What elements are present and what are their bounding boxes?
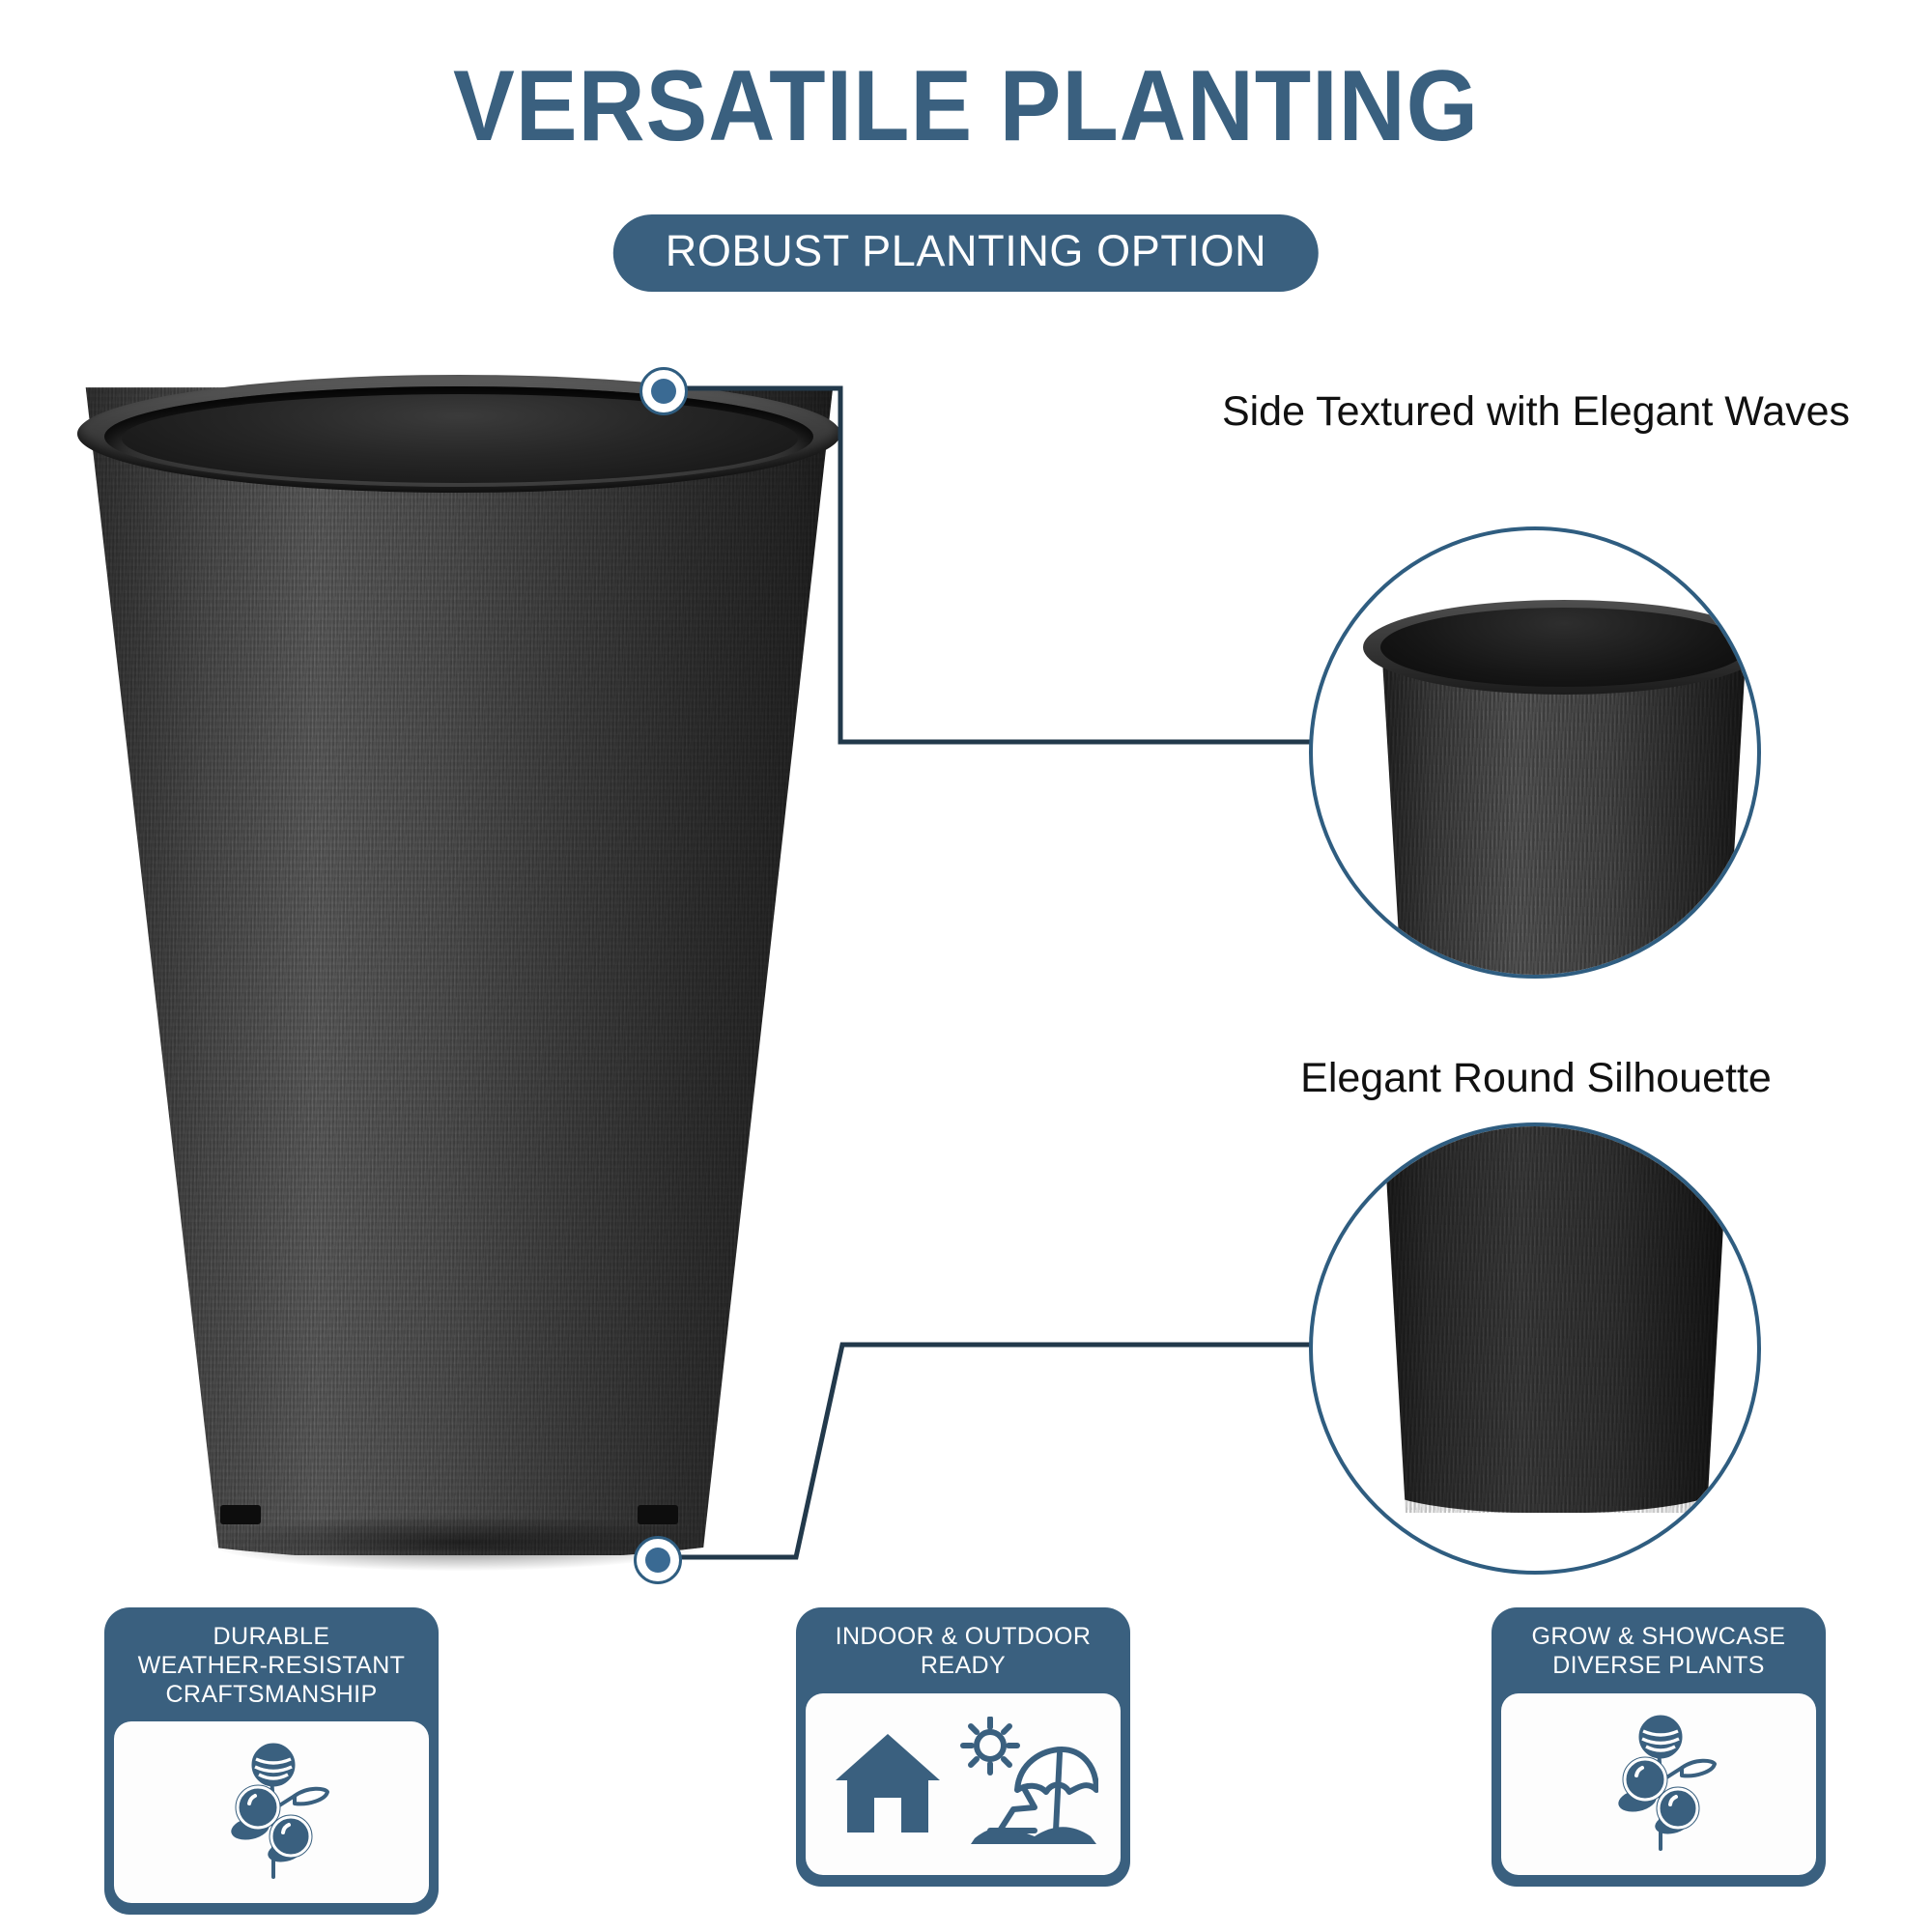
lounge-chair-icon <box>990 1790 1035 1831</box>
detail-circle-side-texture <box>1309 526 1761 979</box>
feature-card-durable[interactable]: DURABLE WEATHER-RESISTANT CRAFTSMANSHIP <box>104 1607 439 1915</box>
berry-branch-icon <box>1601 1712 1717 1857</box>
house-icon <box>836 1734 940 1833</box>
hero-planter-image <box>39 319 879 1565</box>
subtitle-badge: ROBUST PLANTING OPTION <box>613 214 1319 292</box>
feature-card-title: INDOOR & OUTDOOR READY <box>834 1621 1094 1681</box>
detail-pot-top-cavity <box>1380 608 1747 687</box>
feature-card-title: DURABLE WEATHER-RESISTANT CRAFTSMANSHIP <box>136 1621 408 1709</box>
feature-card-indoor-outdoor[interactable]: INDOOR & OUTDOOR READY <box>796 1607 1130 1887</box>
feature-icon-panel <box>806 1693 1121 1875</box>
callout-dot-top[interactable] <box>639 367 688 415</box>
planter-foot-notch-right <box>638 1505 678 1524</box>
house-and-beach-icon <box>828 1717 1098 1852</box>
feature-icon-panel <box>114 1721 429 1903</box>
feature-card-grow-showcase[interactable]: GROW & SHOWCASE DIVERSE PLANTS <box>1492 1607 1826 1887</box>
detail-circle-round-silhouette <box>1309 1122 1761 1575</box>
page-title: VERSATILE PLANTING <box>77 56 1855 156</box>
feature-card-title: GROW & SHOWCASE DIVERSE PLANTS <box>1530 1621 1788 1681</box>
planter-body <box>39 357 879 1565</box>
callout-dot-bottom[interactable] <box>634 1536 682 1584</box>
sun-icon <box>963 1719 1017 1773</box>
detail-pot-bottom-body <box>1359 1122 1746 1513</box>
beach-umbrella-icon <box>1017 1749 1096 1831</box>
callout-label-round-silhouette: Elegant Round Silhouette <box>1198 1051 1874 1106</box>
planter-foot-notch-left <box>220 1505 261 1524</box>
planter-inner-cavity <box>122 394 798 483</box>
infographic-canvas: VERSATILE PLANTING ROBUST PLANTING OPTIO… <box>0 0 1932 1932</box>
callout-label-side-texture: Side Textured with Elegant Waves <box>1198 384 1874 440</box>
berry-branch-icon <box>213 1740 329 1885</box>
detail-pot-bottom-texture <box>1359 1122 1746 1513</box>
feature-icon-panel <box>1501 1693 1816 1875</box>
planter-base-shadow <box>211 1515 707 1571</box>
planter-side-texture <box>39 357 879 1560</box>
